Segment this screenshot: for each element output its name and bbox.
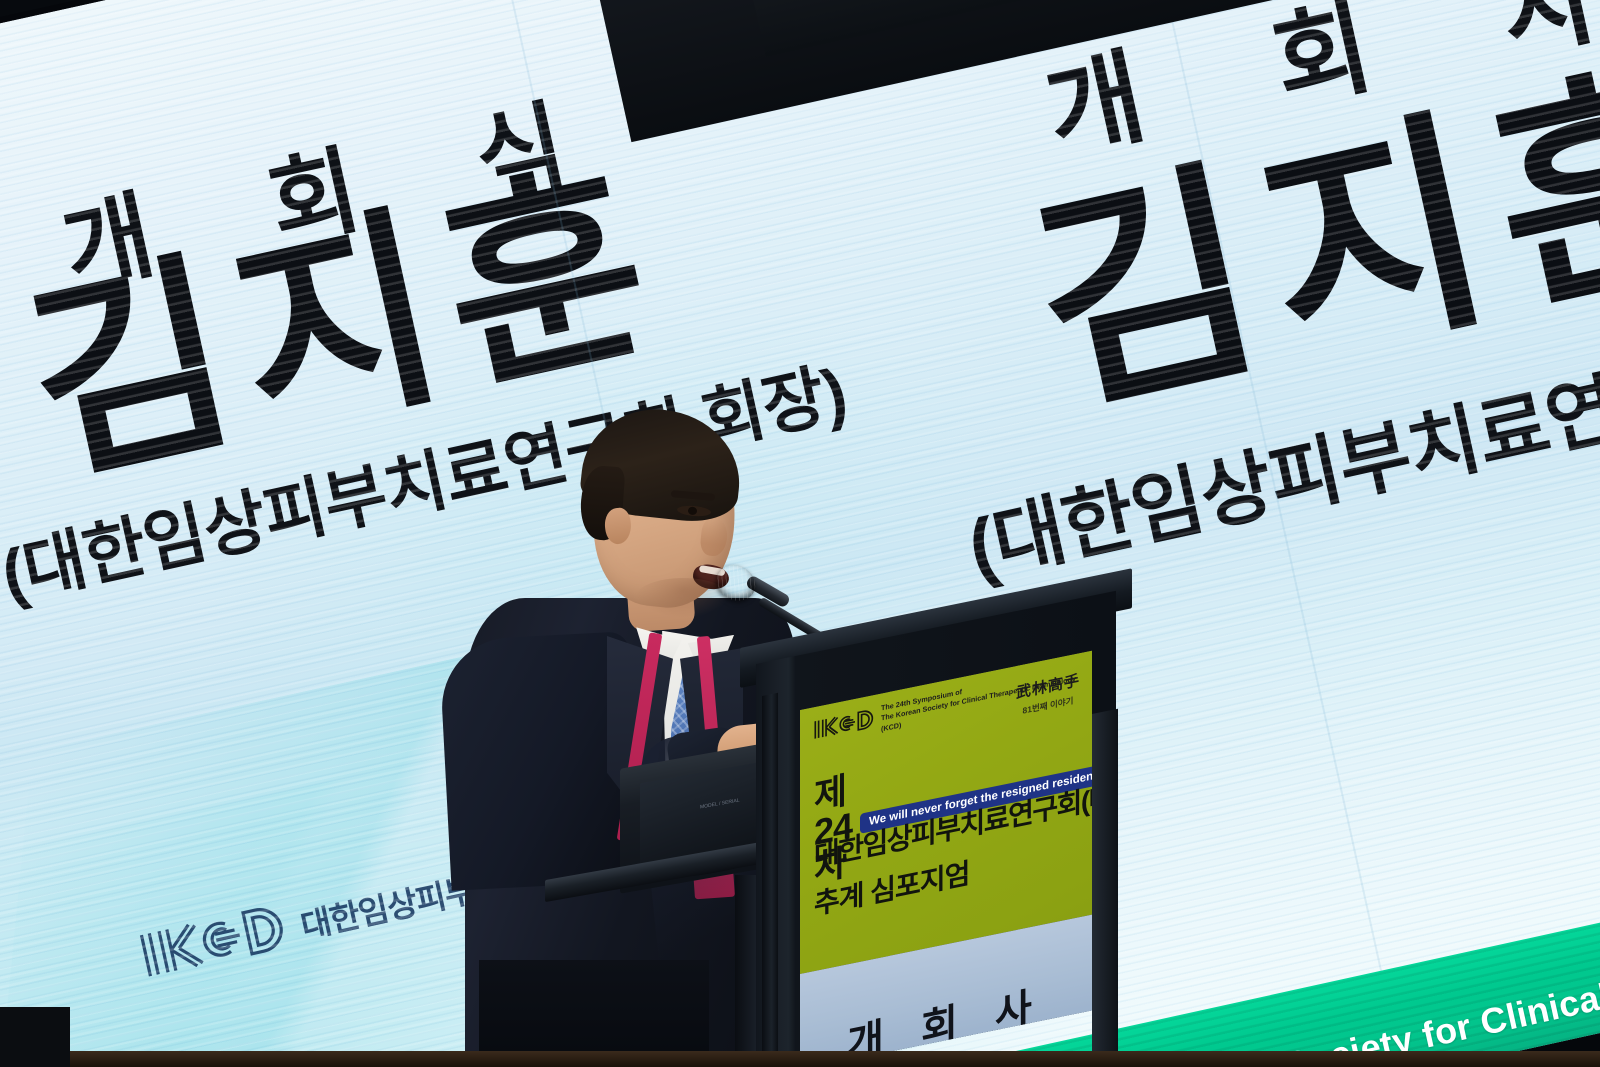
podium-right-edge	[1092, 709, 1118, 1067]
floor-strip	[0, 1051, 1600, 1067]
podium-rail-label	[766, 713, 775, 835]
podium: The 24th Symposium of The Korean Society…	[756, 664, 1116, 1067]
stage-left-dark-edge	[0, 1007, 70, 1067]
kcd-logo-icon	[812, 706, 874, 748]
screenshot-root: 대한임상피부치료연구회 The Korean Society for Clini…	[0, 0, 1600, 1067]
podium-sign: The 24th Symposium of The Korean Society…	[800, 651, 1092, 1067]
